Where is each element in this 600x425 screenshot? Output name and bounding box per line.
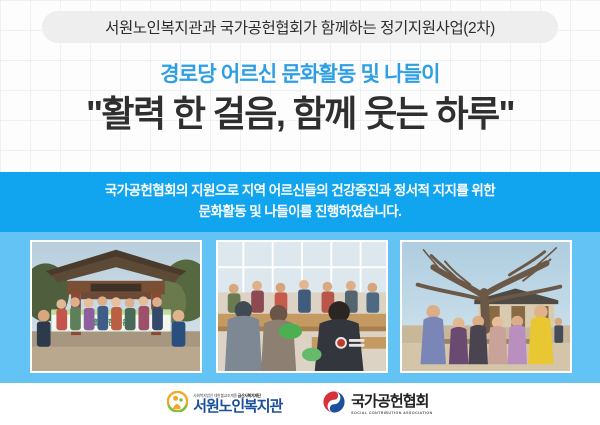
photo-strip: 활력 한 걸음 [0,232,600,383]
kca-logo-text: 국가공헌협회 SOCIAL CONTRIBUTION ASSOCIATION [351,394,433,415]
photo-2-illustration [218,242,386,371]
photo-3-illustration [402,242,570,371]
photo-indoor-activity [216,240,388,373]
logo-seowon-senior-welfare-center: 사회복지법인 대한불교조계종 금산사복지재단 서원노인복지관 [167,391,282,417]
kca-emblem-icon [322,390,346,419]
seowon-logo-name: 서원노인복지관 [193,399,282,414]
description-line-2: 문화활동 및 나들이를 진행하였습니다. [199,202,402,223]
photo-1-illustration: 활력 한 걸음 [32,242,200,371]
kca-logo-name: 국가공헌협회 [351,394,433,409]
description-line-1: 국가공헌협회의 지원으로 지역 어르신들의 건강증진과 정서적 지지를 위한 [105,181,495,202]
program-subtitle: 경로당 어르신 문화활동 및 나들이 [0,58,600,88]
main-slogan: "활력 한 걸음, 함께 웃는 하루" [0,93,600,134]
seowon-logo-text: 사회복지법인 대한불교조계종 금산사복지재단 서원노인복지관 [193,394,282,414]
photo-group-temple-gate: 활력 한 걸음 [30,240,202,373]
kca-logo-subtitle-en: SOCIAL CONTRIBUTION ASSOCIATION [351,411,433,415]
logo-korea-contribution-association: 국가공헌협회 SOCIAL CONTRIBUTION ASSOCIATION [322,390,433,419]
seowon-emblem-icon [167,391,188,417]
header-pill: 서원노인복지관과 국가공헌협회가 함께하는 정기지원사업(2차) [42,11,558,43]
poster-root: 서원노인복지관과 국가공헌협회가 함께하는 정기지원사업(2차) 경로당 어르신… [0,0,600,425]
photo-outdoor-tree [400,240,572,373]
description-band: 국가공헌협회의 지원으로 지역 어르신들의 건강증진과 정서적 지지를 위한 문… [0,172,600,232]
header-pill-label: 서원노인복지관과 국가공헌협회가 함께하는 정기지원사업(2차) [105,16,495,38]
footer-logos: 사회복지법인 대한불교조계종 금산사복지재단 서원노인복지관 국가공헌협회 SO… [0,383,600,425]
